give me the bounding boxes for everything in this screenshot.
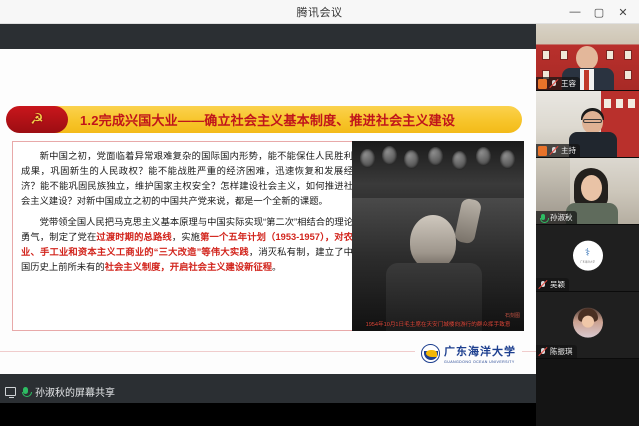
highlighted-run: 社会主义制度，开启社会主义建设新征程 xyxy=(105,262,272,272)
hammer-sickle-glyph: ☭ xyxy=(30,112,43,127)
wall-certificate xyxy=(624,70,632,80)
window-titlebar: 腾讯会议 — ▢ ✕ xyxy=(0,0,639,24)
window-title: 腾讯会议 xyxy=(297,4,343,20)
wall-certificate xyxy=(560,50,568,60)
meeting-workspace: ☭ 1.2完成兴国大业——确立社会主义基本制度、推进社会主义建设 新中国之初，党… xyxy=(0,24,639,426)
party-emblem-icon: ☭ xyxy=(6,106,68,133)
participant-badge: 陈振琪 xyxy=(536,345,577,358)
participant-name: 孙淑秋 xyxy=(550,212,573,223)
avatar-face xyxy=(582,316,594,328)
lantern-icon xyxy=(452,151,467,170)
photo-caption: 1954年10月1日毛主席在天安门城楼向游行的群众挥手致意 xyxy=(352,320,524,328)
participant-tile[interactable]: 陈振琪 xyxy=(536,292,639,359)
lantern-icon xyxy=(382,146,397,165)
participant-tile[interactable]: 王容 xyxy=(536,24,639,91)
minimize-button[interactable]: — xyxy=(563,0,587,24)
mic-muted-icon[interactable] xyxy=(549,146,559,156)
pin-icon[interactable] xyxy=(538,79,547,89)
mic-muted-icon[interactable] xyxy=(538,280,548,290)
slide-title-text: 1.2完成兴国大业——确立社会主义基本制度、推进社会主义建设 xyxy=(80,110,455,129)
participant-tile[interactable]: ⚕ 广东海洋大学 吴颖 xyxy=(536,225,639,292)
wall-certificate xyxy=(604,99,611,108)
wall-certificate xyxy=(624,50,632,60)
maximize-button[interactable]: ▢ xyxy=(587,0,611,24)
screen-share-label: 孙淑秋的屏幕共享 xyxy=(35,384,115,399)
lantern-icon xyxy=(500,150,515,169)
avatar xyxy=(573,308,603,338)
wall-certificate xyxy=(606,50,614,60)
wall-certificate xyxy=(542,50,550,60)
participant-video-strip[interactable]: 王容 主持 xyxy=(536,24,639,426)
participant-tile[interactable]: 主持 xyxy=(536,91,639,158)
mic-active-icon[interactable] xyxy=(538,213,548,223)
wall-certificate xyxy=(616,99,623,108)
lantern-icon xyxy=(476,147,491,166)
participant-tile-active-speaker[interactable]: 孙淑秋 xyxy=(536,158,639,225)
university-logo-mark-icon xyxy=(421,344,440,363)
lantern-icon xyxy=(428,147,443,166)
participant-face xyxy=(576,46,598,70)
eyeglasses xyxy=(583,119,602,123)
plain-run: ，实施 xyxy=(172,232,200,242)
participant-badge: 吴颖 xyxy=(536,278,569,291)
pin-icon[interactable] xyxy=(538,146,547,156)
presentation-slide: ☭ 1.2完成兴国大业——确立社会主义基本制度、推进社会主义建设 新中国之初，党… xyxy=(0,49,536,374)
microphone-icon xyxy=(20,386,31,398)
wall-certificate xyxy=(628,99,635,108)
screen-share-status-bar: 孙淑秋的屏幕共享 xyxy=(0,380,536,403)
screen-share-icon xyxy=(5,387,16,396)
participant-badge: 主持 xyxy=(536,144,580,157)
participant-name: 主持 xyxy=(561,145,576,156)
participant-name: 陈振琪 xyxy=(550,346,573,357)
participant-tie xyxy=(584,70,589,90)
slide-textbox: 新中国之初，党面临着异常艰难复杂的国际国内形势，能不能保住人民胜利成果，巩固新生… xyxy=(12,141,362,331)
lantern-icon xyxy=(360,149,375,168)
participant-name: 王容 xyxy=(561,78,576,89)
slide-paragraph-2: 党带领全国人民把马克思主义基本原理与中国实际实现“第二次”相结合的理论勇气，制定… xyxy=(21,215,353,275)
university-logo: 广东海洋大学 GUANGDONG OCEAN UNIVERSITY xyxy=(415,342,522,364)
university-name-cn: 广东海洋大学 xyxy=(444,345,516,358)
avatar-logo-icon: ⚕ xyxy=(585,248,590,258)
university-logo-text: 广东海洋大学 GUANGDONG OCEAN UNIVERSITY xyxy=(444,342,516,364)
window-controls: — ▢ ✕ xyxy=(563,0,635,24)
participant-face xyxy=(581,175,602,201)
participant-badge: 王容 xyxy=(536,77,580,90)
slide-title-row: ☭ 1.2完成兴国大业——确立社会主义基本制度、推进社会主义建设 xyxy=(6,106,522,133)
shared-screen-region[interactable]: ☭ 1.2完成兴国大业——确立社会主义基本制度、推进社会主义建设 新中国之初，党… xyxy=(0,24,536,403)
slide-paragraph-1: 新中国之初，党面临着异常艰难复杂的国际国内形势，能不能保住人民胜利成果，巩固新生… xyxy=(21,149,353,209)
avatar: ⚕ 广东海洋大学 xyxy=(573,241,603,271)
photo-stamp: 石刻图 xyxy=(505,312,520,319)
participant-name: 吴颖 xyxy=(550,279,565,290)
highlighted-run: 过渡时期的总路线 xyxy=(96,232,171,242)
slide-photo: 石刻图 1954年10月1日毛主席在天安门城楼向游行的群众挥手致意 xyxy=(352,141,524,331)
plain-run: 。 xyxy=(272,262,281,272)
lantern-icon xyxy=(404,150,419,169)
avatar-logo-text: 广东海洋大学 xyxy=(580,259,595,263)
mic-muted-icon[interactable] xyxy=(549,79,559,89)
photo-figure-head xyxy=(410,215,456,269)
slide-title-banner: 1.2完成兴国大业——确立社会主义基本制度、推进社会主义建设 xyxy=(54,106,522,133)
university-name-en: GUANGDONG OCEAN UNIVERSITY xyxy=(444,360,516,364)
close-button[interactable]: ✕ xyxy=(611,0,635,24)
mic-muted-icon[interactable] xyxy=(538,347,548,357)
participant-badge: 孙淑秋 xyxy=(536,211,577,224)
